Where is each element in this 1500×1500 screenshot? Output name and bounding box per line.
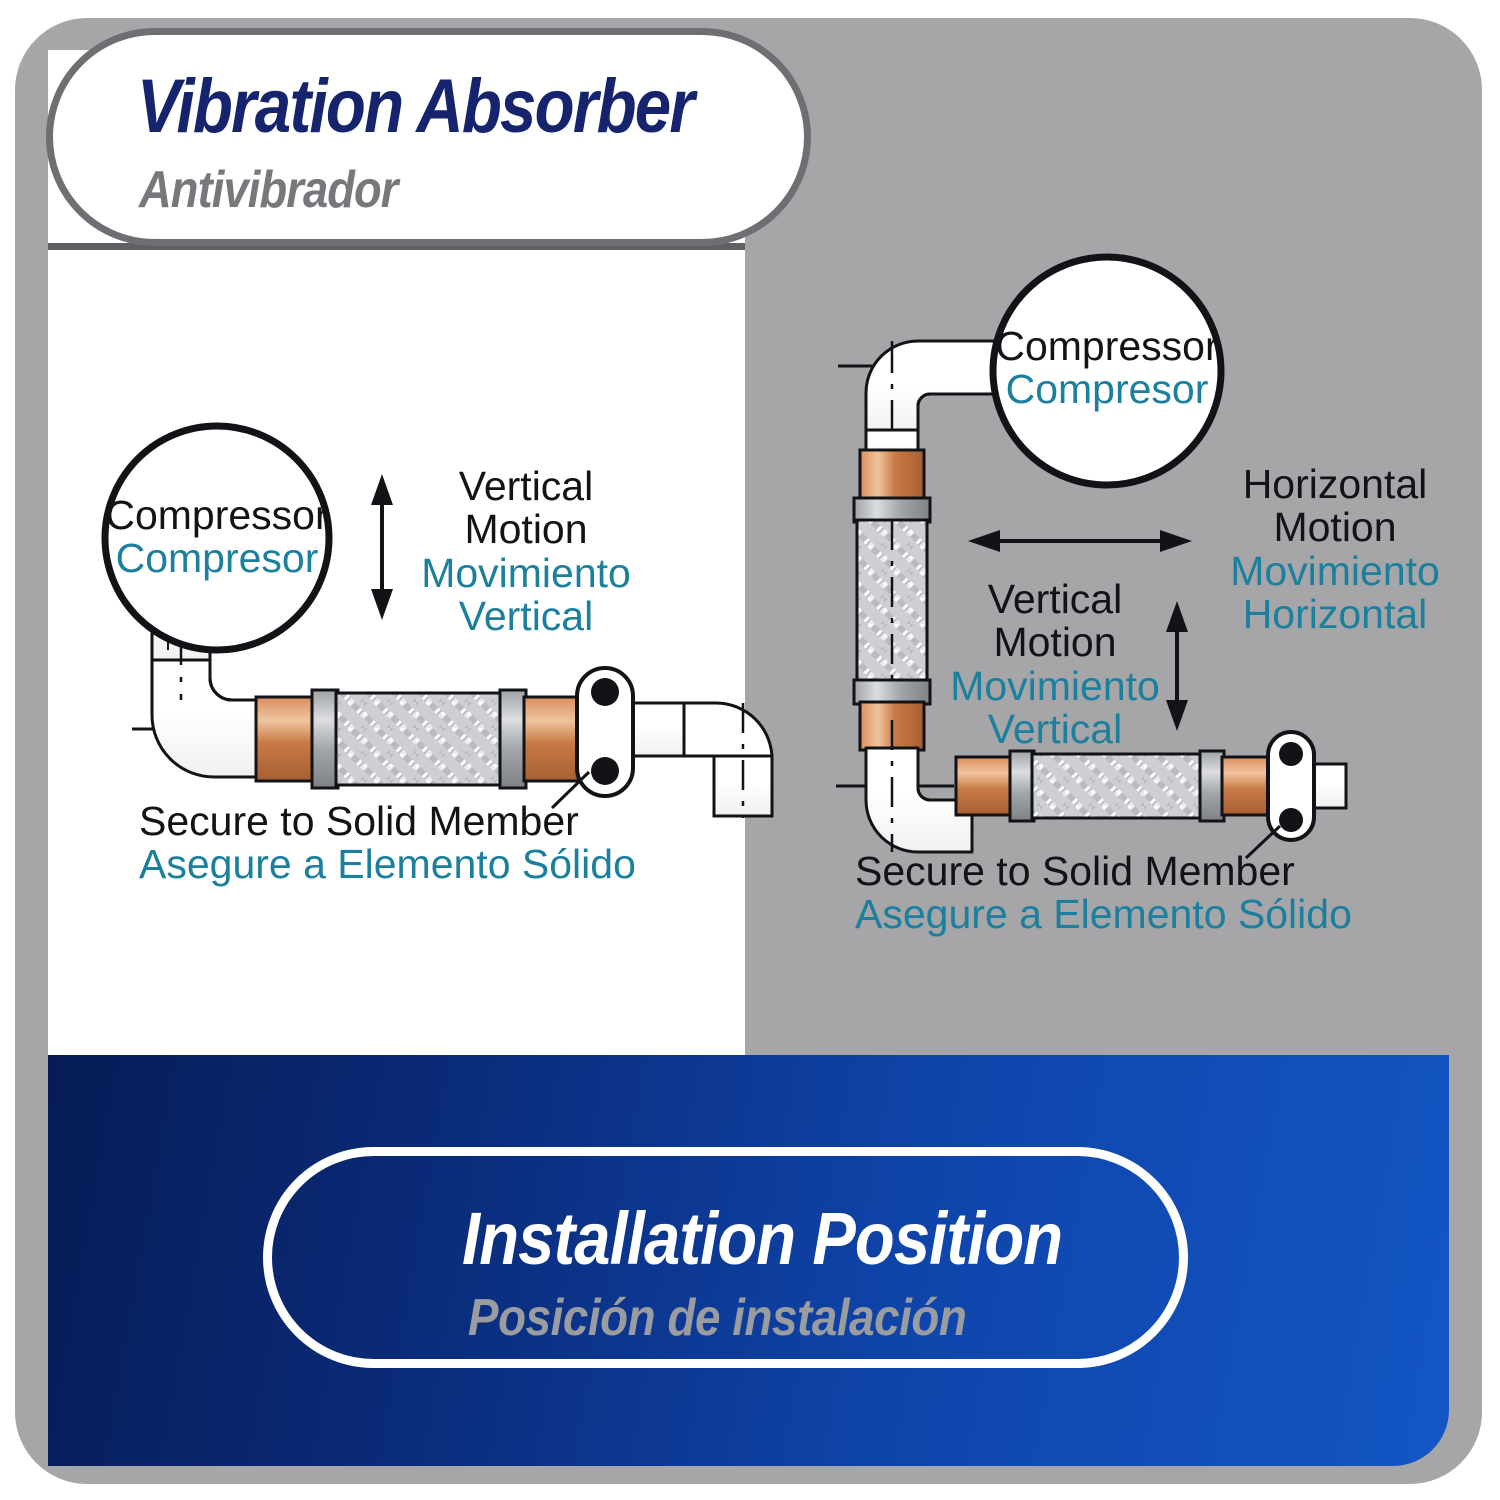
left-compressor-label: Compressor Compresor [103, 494, 331, 581]
left-motion-en-1: Vertical [418, 465, 634, 508]
right-horiz-es-2: Horizontal [1205, 593, 1465, 636]
right-secure-es: Asegure a Elemento Sólido [855, 893, 1352, 936]
left-ferrule-1 [312, 690, 338, 788]
right-braided-hose-horizontal [1032, 754, 1202, 818]
right-secure-en: Secure to Solid Member [855, 850, 1352, 893]
right-vertical-motion-label: Vertical Motion Movimiento Vertical [940, 578, 1170, 752]
right-horiz-es-1: Movimiento [1205, 550, 1465, 593]
left-motion-es-1: Movimiento [418, 552, 634, 595]
right-mounting-bracket [1268, 732, 1314, 840]
left-compressor-label-es: Compresor [103, 537, 331, 580]
left-secure-es: Asegure a Elemento Sólido [139, 843, 636, 886]
right-compressor-label: Compressor Compresor [993, 325, 1221, 412]
page-title-en: Vibration Absorber [137, 63, 693, 150]
left-motion-en-2: Motion [418, 508, 634, 551]
bracket-hole-top [591, 678, 619, 706]
left-secure-label: Secure to Solid Member Asegure a Element… [139, 800, 636, 887]
right-vert-en-2: Motion [940, 621, 1170, 664]
right-compressor-label-es: Compresor [993, 368, 1221, 411]
right-ferrule-1 [854, 498, 930, 522]
right-ferrule-2 [854, 680, 930, 704]
left-compressor-label-en: Compressor [103, 494, 331, 537]
right-vert-en-1: Vertical [940, 578, 1170, 621]
left-secure-en: Secure to Solid Member [139, 800, 636, 843]
right-horiz-en-1: Horizontal [1205, 463, 1465, 506]
bracket-hole-bottom [1279, 808, 1303, 832]
right-copper-fitting-1 [860, 450, 924, 500]
left-copper-fitting-2 [524, 697, 582, 781]
bracket-hole-top [1279, 742, 1303, 766]
left-vertical-motion-label: Vertical Motion Movimiento Vertical [418, 465, 634, 639]
left-motion-es-2: Vertical [418, 595, 634, 638]
right-horizontal-motion-arrow [968, 530, 1192, 552]
right-secure-label: Secure to Solid Member Asegure a Element… [855, 850, 1352, 937]
title-pill: Vibration Absorber Antivibrador [46, 28, 811, 246]
right-vert-es-1: Movimiento [940, 665, 1170, 708]
poster-root: Compressor Compresor Vertical Motion Mov… [0, 0, 1500, 1500]
right-copper-fitting-3 [956, 757, 1012, 815]
right-horizontal-motion-label: Horizontal Motion Movimiento Horizontal [1205, 463, 1465, 637]
page-title-es: Antivibrador [139, 160, 398, 220]
left-copper-fitting-1 [256, 697, 314, 781]
right-ferrule-4 [1200, 751, 1224, 821]
right-ferrule-3 [1010, 751, 1034, 821]
right-compressor-label-en: Compressor [993, 325, 1221, 368]
left-vertical-motion-arrow [371, 474, 393, 620]
right-horiz-en-2: Motion [1205, 506, 1465, 549]
bracket-hole-bottom [591, 757, 619, 785]
right-vert-es-2: Vertical [940, 708, 1170, 751]
left-braided-hose [336, 693, 502, 785]
left-ferrule-2 [500, 690, 526, 788]
